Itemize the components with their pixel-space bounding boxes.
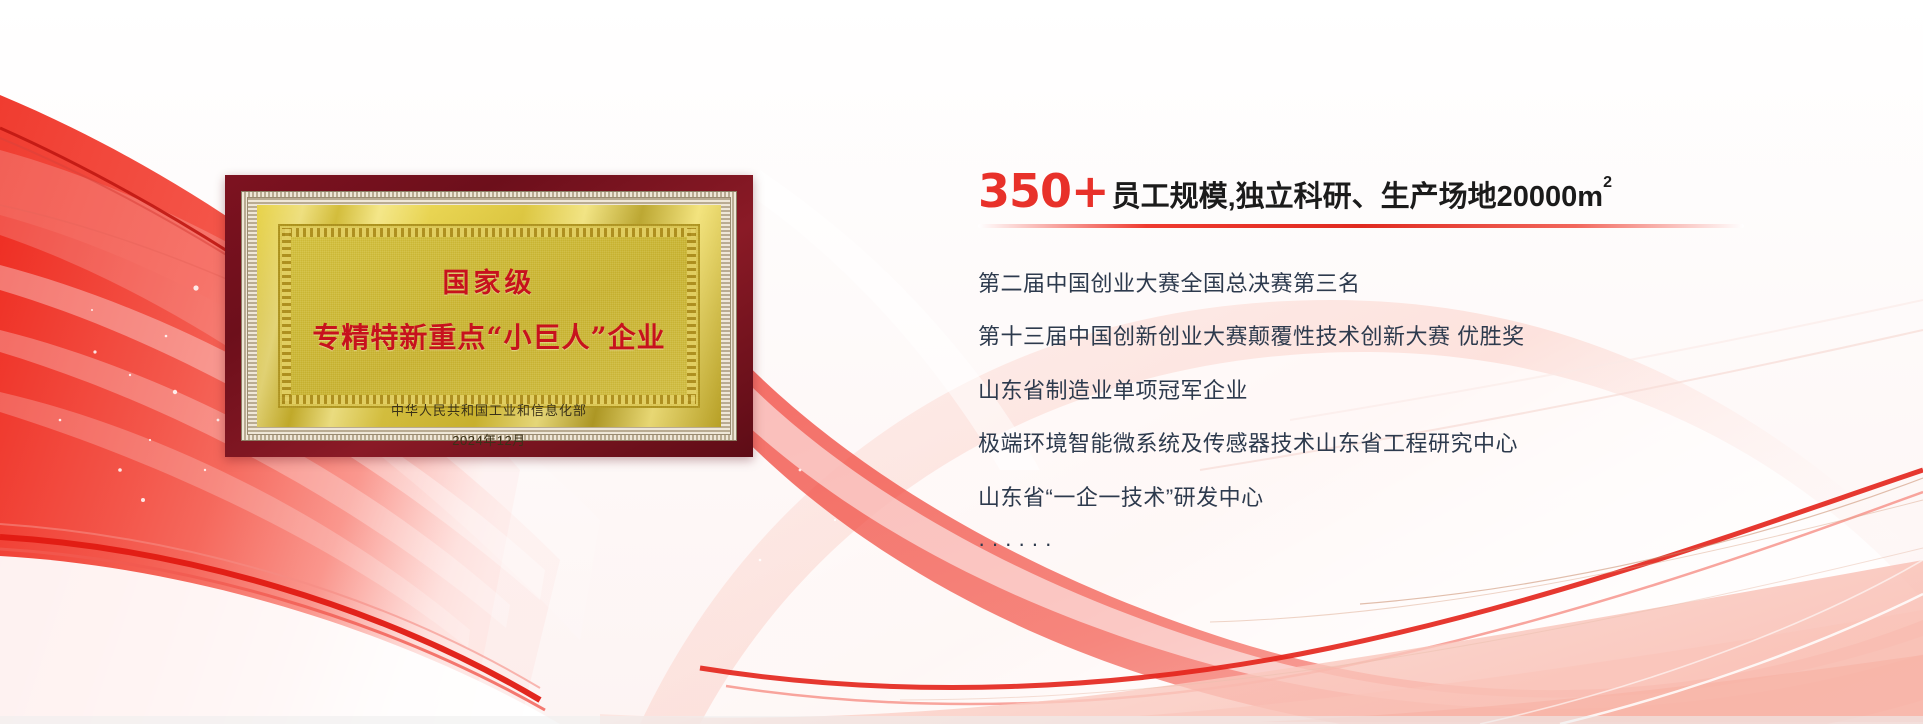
content-column: 350+ 员工规模‚独立科研、生产场地20000m2 第二届中国创业大赛全国总决… [978,170,1798,557]
headline: 350+ 员工规模‚独立科研、生产场地20000m2 [978,170,1798,214]
list-item: 山东省“一企一技术”研发中心 [978,484,1798,512]
list-item: 极端环境智能微系统及传感器技术山东省工程研究中心 [978,430,1798,458]
list-item: 第二届中国创业大赛全国总决赛第三名 [978,270,1798,298]
headline-text: 员工规模‚独立科研、生产场地20000m2 [1112,182,1612,212]
awards-list: 第二届中国创业大赛全国总决赛第三名 第十三届中国创新创业大赛颠覆性技术创新大赛 … [978,270,1798,558]
plaque-gold-face: 国家级 专精特新重点“小巨人”企业 中华人民共和国工业和信息化部 2024年12… [257,205,721,427]
award-plaque: 国家级 专精特新重点“小巨人”企业 中华人民共和国工业和信息化部 2024年12… [225,175,753,457]
headline-text-body: 员工规模‚独立科研、生产场地20000m [1112,181,1604,213]
plaque-date-label: 2024年12月 [452,430,525,449]
list-item: 山东省制造业单项冠军企业 [978,377,1798,405]
promo-banner: 国家级 专精特新重点“小巨人”企业 中华人民共和国工业和信息化部 2024年12… [0,0,1923,724]
awards-ellipsis: ······ [978,531,1798,557]
plaque-level-label: 国家级 [443,261,536,300]
headline-superscript: 2 [1603,174,1612,191]
headline-divider [978,224,1744,228]
plaque-title-label: 专精特新重点“小巨人”企业 [312,316,665,356]
plaque-inscription: 国家级 专精特新重点“小巨人”企业 中华人民共和国工业和信息化部 2024年12… [257,205,721,427]
headline-number: 350+ [978,170,1109,214]
list-item: 第十三届中国创新创业大赛颠覆性技术创新大赛 优胜奖 [978,323,1798,351]
plaque-issuer-label: 中华人民共和国工业和信息化部 [391,400,587,419]
